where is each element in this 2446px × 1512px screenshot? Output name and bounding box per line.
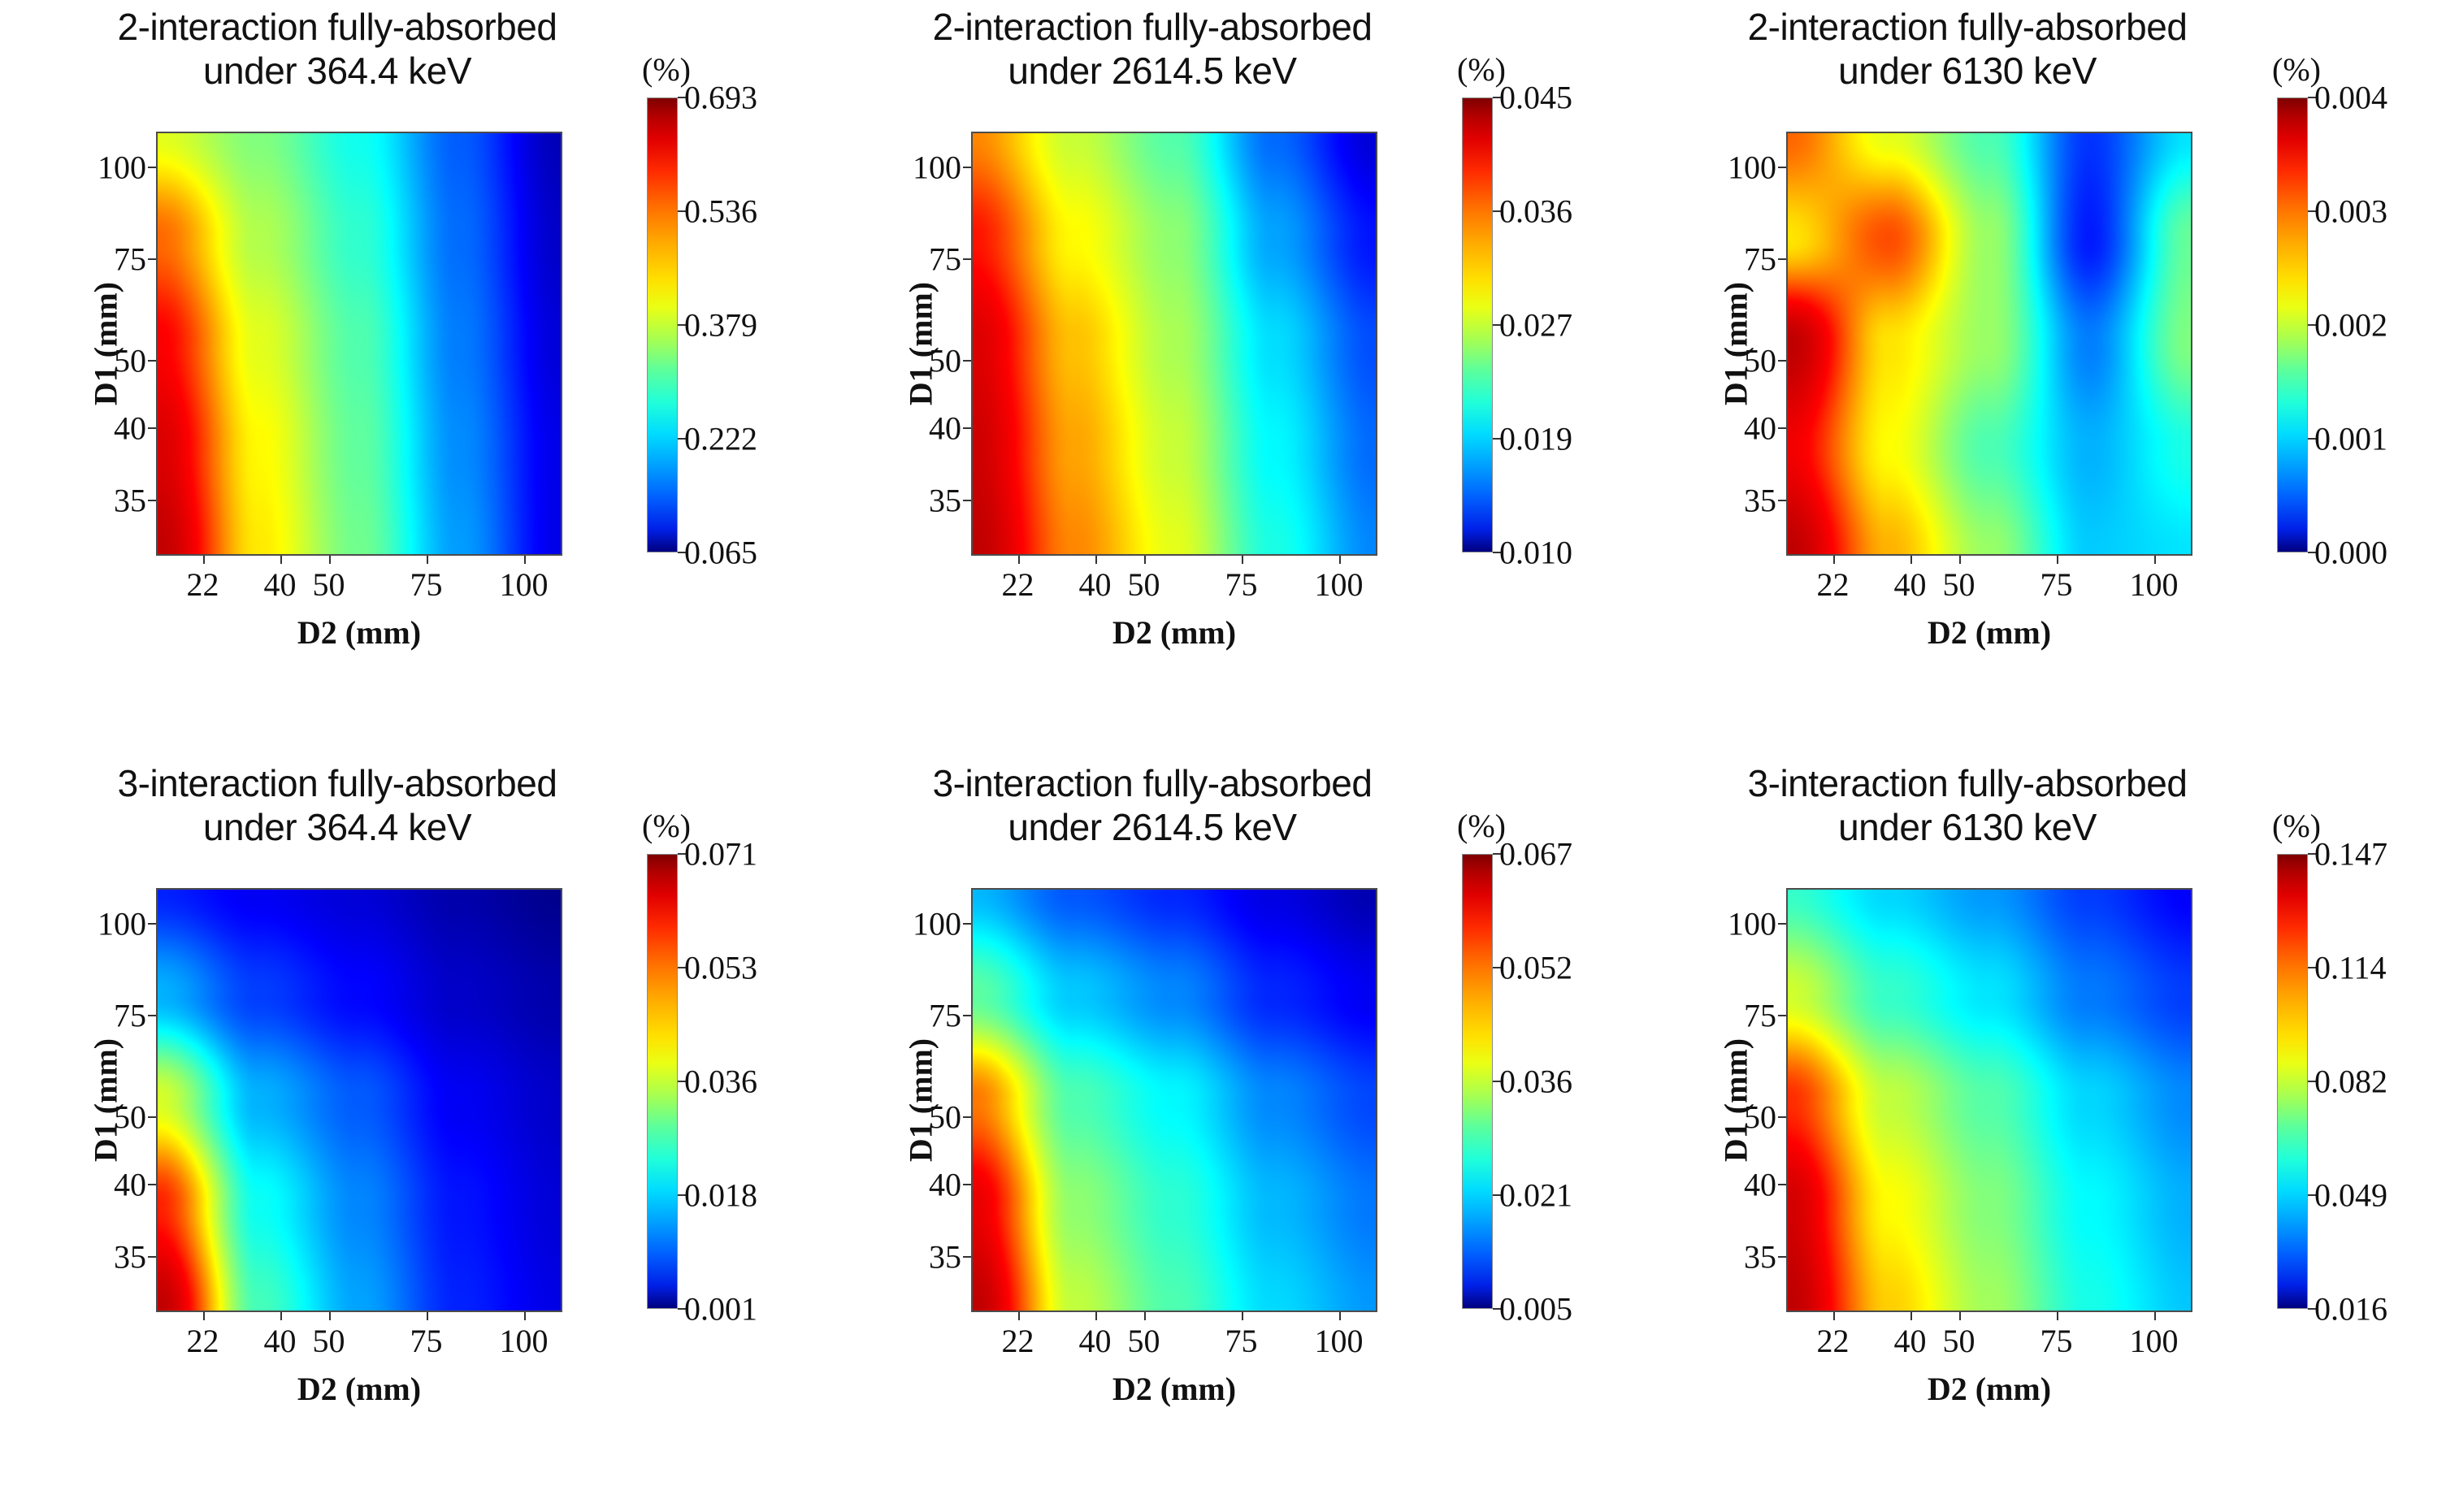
y-axis-tick-mark bbox=[1778, 1116, 1786, 1118]
colorbar-group: (%)0.1470.1140.0820.0490.016 bbox=[2272, 854, 2435, 1415]
y-axis-tick-label: 40 bbox=[1744, 409, 1776, 448]
x-axis-tick-mark bbox=[1833, 1312, 1835, 1320]
x-axis-tick-label: 22 bbox=[187, 1322, 219, 1360]
x-axis-tick-label: 75 bbox=[1225, 565, 1258, 604]
colorbar-tick-label: 0.001 bbox=[684, 1290, 757, 1328]
x-axis-tick-label: 22 bbox=[187, 565, 219, 604]
x-axis-tick-label: 100 bbox=[2130, 565, 2179, 604]
y-axis-tick-label: 40 bbox=[114, 1166, 146, 1204]
heatmap-panel-3: 2-interaction fully-absorbed under 6130 … bbox=[1630, 0, 2445, 756]
y-axis-tick-mark bbox=[963, 1256, 971, 1258]
colorbar-gradient bbox=[647, 97, 678, 552]
heatmap-panel-1: 2-interaction fully-absorbed under 364.4… bbox=[0, 0, 815, 756]
colorbar-unit-label: (%) bbox=[2272, 807, 2321, 845]
colorbar-tick-label: 0.010 bbox=[1499, 534, 1572, 572]
y-axis-tick-label: 75 bbox=[929, 996, 961, 1034]
y-axis-tick-mark bbox=[1778, 1256, 1786, 1258]
x-axis-label: D2 (mm) bbox=[156, 1370, 562, 1408]
colorbar-tick-label: 0.065 bbox=[684, 534, 757, 572]
y-axis-tick-mark bbox=[1778, 258, 1786, 260]
y-axis-tick-label: 75 bbox=[1744, 240, 1776, 278]
y-axis-tick-label: 35 bbox=[929, 482, 961, 520]
x-axis-tick-mark bbox=[1144, 556, 1146, 564]
y-axis-tick-mark bbox=[963, 360, 971, 362]
plot-area: 1007550403522405075100D1 (mm)D2 (mm) bbox=[156, 132, 562, 556]
colorbar-group: (%)0.6930.5360.3790.2220.065 bbox=[642, 97, 804, 658]
x-axis-tick-mark bbox=[2057, 1312, 2058, 1320]
x-axis-tick-mark bbox=[1144, 1312, 1146, 1320]
y-axis-tick-label: 40 bbox=[929, 1166, 961, 1204]
y-axis-tick-mark bbox=[1778, 167, 1786, 168]
y-axis-tick-label: 35 bbox=[929, 1238, 961, 1276]
colorbar-gradient bbox=[2277, 97, 2308, 552]
y-axis-tick-mark bbox=[148, 1256, 156, 1258]
y-axis-tick-mark bbox=[963, 500, 971, 501]
panel-title: 3-interaction fully-absorbed under 364.4… bbox=[0, 761, 674, 850]
colorbar-tick-label: 0.049 bbox=[2314, 1176, 2387, 1215]
x-axis-tick-mark bbox=[1959, 556, 1961, 564]
plot-area: 1007550403522405075100D1 (mm)D2 (mm) bbox=[1786, 132, 2192, 556]
x-axis-tick-mark bbox=[329, 1312, 331, 1320]
y-axis-tick-label: 100 bbox=[913, 905, 961, 943]
x-axis-label: D2 (mm) bbox=[156, 613, 562, 652]
x-axis-tick-mark bbox=[427, 556, 428, 564]
plot-area: 1007550403522405075100D1 (mm)D2 (mm) bbox=[971, 132, 1377, 556]
y-axis-label: D1 (mm) bbox=[902, 1038, 940, 1162]
x-axis-tick-mark bbox=[203, 1312, 205, 1320]
x-axis-tick-label: 75 bbox=[410, 1322, 443, 1360]
colorbar-tick-label: 0.036 bbox=[1499, 193, 1572, 231]
colorbar-unit-label: (%) bbox=[642, 807, 691, 845]
heatmap-image bbox=[971, 888, 1377, 1312]
y-axis-tick-mark bbox=[963, 1116, 971, 1118]
panel-title: 2-interaction fully-absorbed under 364.4… bbox=[0, 5, 674, 93]
heatmap-image bbox=[971, 132, 1377, 556]
x-axis-tick-label: 100 bbox=[2130, 1322, 2179, 1360]
colorbar-tick-label: 0.036 bbox=[684, 1063, 757, 1101]
x-axis-tick-label: 100 bbox=[1315, 565, 1364, 604]
y-axis-tick-mark bbox=[963, 258, 971, 260]
colorbar-tick-label: 0.114 bbox=[2314, 949, 2387, 987]
colorbar-group: (%)0.0450.0360.0270.0190.010 bbox=[1457, 97, 1620, 658]
y-axis-tick-label: 40 bbox=[1744, 1166, 1776, 1204]
x-axis-label: D2 (mm) bbox=[1786, 1370, 2192, 1408]
x-axis-tick-mark bbox=[1910, 1312, 1912, 1320]
x-axis-tick-mark bbox=[2154, 556, 2156, 564]
colorbar-tick-label: 0.067 bbox=[1499, 835, 1572, 873]
colorbar-tick-label: 0.021 bbox=[1499, 1176, 1572, 1215]
x-axis-tick-label: 40 bbox=[264, 1322, 297, 1360]
x-axis-tick-mark bbox=[1095, 1312, 1097, 1320]
y-axis-tick-label: 35 bbox=[114, 482, 146, 520]
colorbar-tick-label: 0.036 bbox=[1499, 1063, 1572, 1101]
x-axis-label: D2 (mm) bbox=[1786, 613, 2192, 652]
colorbar-tick-label: 0.045 bbox=[1499, 79, 1572, 117]
x-axis-tick-mark bbox=[2057, 556, 2058, 564]
colorbar-tick-label: 0.536 bbox=[684, 193, 757, 231]
heatmap-panel-6: 3-interaction fully-absorbed under 6130 … bbox=[1630, 756, 2445, 1512]
colorbar-group: (%)0.0670.0520.0360.0210.005 bbox=[1457, 854, 1620, 1415]
y-axis-label: D1 (mm) bbox=[1717, 282, 1755, 405]
y-axis-label: D1 (mm) bbox=[1717, 1038, 1755, 1162]
colorbar-tick-label: 0.005 bbox=[1499, 1290, 1572, 1328]
x-axis-tick-label: 100 bbox=[1315, 1322, 1364, 1360]
x-axis-tick-mark bbox=[1242, 556, 1243, 564]
y-axis-tick-label: 100 bbox=[1728, 905, 1776, 943]
x-axis-tick-label: 40 bbox=[1079, 1322, 1112, 1360]
x-axis-tick-label: 22 bbox=[1002, 1322, 1034, 1360]
x-axis-tick-label: 100 bbox=[500, 565, 549, 604]
y-axis-tick-label: 100 bbox=[913, 149, 961, 187]
colorbar-group: (%)0.0040.0030.0020.0010.000 bbox=[2272, 97, 2435, 658]
x-axis-tick-mark bbox=[1833, 556, 1835, 564]
y-axis-tick-mark bbox=[148, 360, 156, 362]
y-axis-tick-mark bbox=[148, 500, 156, 501]
y-axis-tick-mark bbox=[1778, 360, 1786, 362]
colorbar-tick-label: 0.379 bbox=[684, 306, 757, 344]
colorbar-gradient bbox=[2277, 854, 2308, 1309]
x-axis-tick-label: 50 bbox=[313, 565, 345, 604]
heatmap-image bbox=[1786, 888, 2192, 1312]
heatmap-panel-4: 3-interaction fully-absorbed under 364.4… bbox=[0, 756, 815, 1512]
colorbar-tick-label: 0.027 bbox=[1499, 306, 1572, 344]
y-axis-tick-mark bbox=[963, 1015, 971, 1016]
colorbar-tick-label: 0.693 bbox=[684, 79, 757, 117]
y-axis-tick-mark bbox=[148, 923, 156, 925]
colorbar-tick-label: 0.003 bbox=[2314, 193, 2387, 231]
x-axis-tick-label: 50 bbox=[1128, 1322, 1160, 1360]
colorbar-unit-label: (%) bbox=[642, 50, 691, 89]
colorbar-tick-label: 0.001 bbox=[2314, 420, 2387, 458]
x-axis-tick-mark bbox=[1339, 556, 1341, 564]
colorbar-gradient bbox=[647, 854, 678, 1309]
y-axis-label: D1 (mm) bbox=[902, 282, 940, 405]
panel-title: 3-interaction fully-absorbed under 6130 … bbox=[1630, 761, 2305, 850]
y-axis-tick-label: 35 bbox=[1744, 482, 1776, 520]
y-axis-tick-mark bbox=[148, 1184, 156, 1185]
x-axis-tick-label: 22 bbox=[1817, 565, 1850, 604]
colorbar-tick-label: 0.016 bbox=[2314, 1290, 2387, 1328]
y-axis-tick-mark bbox=[148, 258, 156, 260]
x-axis-tick-mark bbox=[1018, 1312, 1020, 1320]
x-axis-tick-label: 40 bbox=[1894, 1322, 1927, 1360]
y-axis-tick-mark bbox=[1778, 1015, 1786, 1016]
x-axis-tick-label: 22 bbox=[1002, 565, 1034, 604]
y-axis-tick-mark bbox=[963, 1184, 971, 1185]
y-axis-tick-mark bbox=[148, 167, 156, 168]
colorbar-unit-label: (%) bbox=[1457, 50, 1506, 89]
x-axis-tick-label: 50 bbox=[1943, 565, 1975, 604]
x-axis-tick-mark bbox=[203, 556, 205, 564]
x-axis-label: D2 (mm) bbox=[971, 613, 1377, 652]
x-axis-tick-label: 40 bbox=[1894, 565, 1927, 604]
x-axis-tick-mark bbox=[1910, 556, 1912, 564]
y-axis-tick-label: 100 bbox=[1728, 149, 1776, 187]
x-axis-tick-label: 22 bbox=[1817, 1322, 1850, 1360]
panel-title: 2-interaction fully-absorbed under 6130 … bbox=[1630, 5, 2305, 93]
heatmap-panel-2: 2-interaction fully-absorbed under 2614.… bbox=[815, 0, 1630, 756]
panel-title: 3-interaction fully-absorbed under 2614.… bbox=[815, 761, 1490, 850]
y-axis-label: D1 (mm) bbox=[87, 1038, 125, 1162]
colorbar-tick-label: 0.071 bbox=[684, 835, 757, 873]
x-axis-tick-label: 40 bbox=[1079, 565, 1112, 604]
x-axis-tick-mark bbox=[427, 1312, 428, 1320]
x-axis-tick-label: 50 bbox=[1943, 1322, 1975, 1360]
y-axis-label: D1 (mm) bbox=[87, 282, 125, 405]
colorbar-tick-label: 0.052 bbox=[1499, 949, 1572, 987]
colorbar-tick-label: 0.002 bbox=[2314, 306, 2387, 344]
heatmap-image bbox=[156, 888, 562, 1312]
x-axis-tick-label: 75 bbox=[2041, 1322, 2073, 1360]
colorbar-tick-label: 0.004 bbox=[2314, 79, 2387, 117]
x-axis-tick-mark bbox=[524, 1312, 526, 1320]
y-axis-tick-label: 100 bbox=[98, 905, 146, 943]
y-axis-tick-mark bbox=[963, 427, 971, 429]
y-axis-tick-mark bbox=[1778, 1184, 1786, 1185]
y-axis-tick-mark bbox=[1778, 923, 1786, 925]
x-axis-tick-label: 40 bbox=[264, 565, 297, 604]
y-axis-tick-label: 75 bbox=[929, 240, 961, 278]
y-axis-tick-mark bbox=[148, 1015, 156, 1016]
panel-title: 2-interaction fully-absorbed under 2614.… bbox=[815, 5, 1490, 93]
plot-area: 1007550403522405075100D1 (mm)D2 (mm) bbox=[971, 888, 1377, 1312]
plot-area: 1007550403522405075100D1 (mm)D2 (mm) bbox=[1786, 888, 2192, 1312]
x-axis-tick-label: 50 bbox=[1128, 565, 1160, 604]
colorbar-tick-label: 0.082 bbox=[2314, 1063, 2387, 1101]
colorbar-group: (%)0.0710.0530.0360.0180.001 bbox=[642, 854, 804, 1415]
colorbar-tick-label: 0.019 bbox=[1499, 420, 1572, 458]
x-axis-tick-mark bbox=[1018, 556, 1020, 564]
x-axis-tick-label: 50 bbox=[313, 1322, 345, 1360]
y-axis-tick-label: 75 bbox=[114, 996, 146, 1034]
y-axis-tick-mark bbox=[963, 923, 971, 925]
y-axis-tick-mark bbox=[1778, 500, 1786, 501]
heatmap-image bbox=[156, 132, 562, 556]
y-axis-tick-label: 35 bbox=[1744, 1238, 1776, 1276]
y-axis-tick-label: 100 bbox=[98, 149, 146, 187]
x-axis-tick-mark bbox=[1095, 556, 1097, 564]
x-axis-tick-mark bbox=[2154, 1312, 2156, 1320]
y-axis-tick-label: 35 bbox=[114, 1238, 146, 1276]
y-axis-tick-label: 75 bbox=[114, 240, 146, 278]
y-axis-tick-mark bbox=[148, 427, 156, 429]
y-axis-tick-mark bbox=[963, 167, 971, 168]
y-axis-tick-label: 40 bbox=[114, 409, 146, 448]
x-axis-tick-label: 75 bbox=[1225, 1322, 1258, 1360]
colorbar-tick-label: 0.053 bbox=[684, 949, 757, 987]
x-axis-tick-mark bbox=[524, 556, 526, 564]
x-axis-tick-mark bbox=[280, 1312, 282, 1320]
heatmap-panel-5: 3-interaction fully-absorbed under 2614.… bbox=[815, 756, 1630, 1512]
colorbar-tick-label: 0.147 bbox=[2314, 835, 2387, 873]
x-axis-tick-mark bbox=[1242, 1312, 1243, 1320]
colorbar-gradient bbox=[1462, 854, 1493, 1309]
plot-area: 1007550403522405075100D1 (mm)D2 (mm) bbox=[156, 888, 562, 1312]
colorbar-unit-label: (%) bbox=[1457, 807, 1506, 845]
y-axis-tick-label: 75 bbox=[1744, 996, 1776, 1034]
x-axis-label: D2 (mm) bbox=[971, 1370, 1377, 1408]
y-axis-tick-mark bbox=[148, 1116, 156, 1118]
x-axis-tick-mark bbox=[1959, 1312, 1961, 1320]
x-axis-tick-mark bbox=[1339, 1312, 1341, 1320]
colorbar-gradient bbox=[1462, 97, 1493, 552]
colorbar-tick-label: 0.000 bbox=[2314, 534, 2387, 572]
x-axis-tick-mark bbox=[329, 556, 331, 564]
y-axis-tick-label: 40 bbox=[929, 409, 961, 448]
x-axis-tick-label: 75 bbox=[410, 565, 443, 604]
colorbar-tick-label: 0.018 bbox=[684, 1176, 757, 1215]
heatmap-image bbox=[1786, 132, 2192, 556]
x-axis-tick-label: 100 bbox=[500, 1322, 549, 1360]
figure-grid: 2-interaction fully-absorbed under 364.4… bbox=[0, 0, 2446, 1512]
y-axis-tick-mark bbox=[1778, 427, 1786, 429]
x-axis-tick-label: 75 bbox=[2041, 565, 2073, 604]
colorbar-tick-label: 0.222 bbox=[684, 420, 757, 458]
x-axis-tick-mark bbox=[280, 556, 282, 564]
colorbar-unit-label: (%) bbox=[2272, 50, 2321, 89]
